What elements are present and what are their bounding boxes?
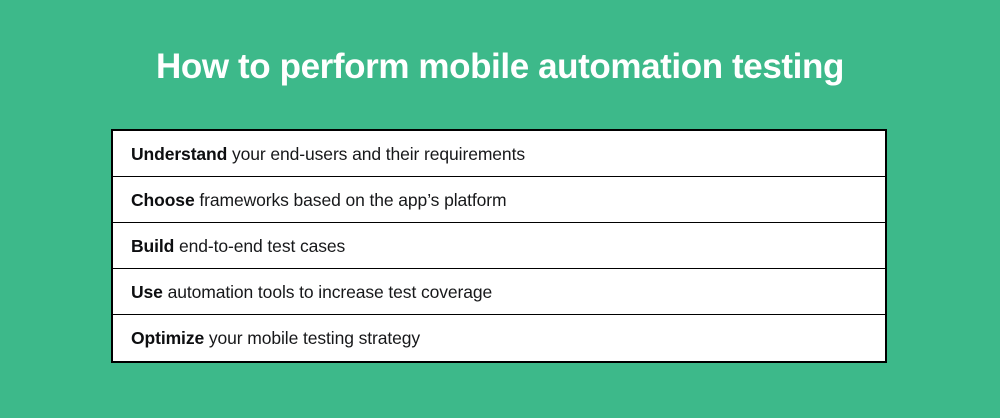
- step-row-5: Optimize your mobile testing strategy: [113, 315, 885, 361]
- step-rest-2: frameworks based on the app’s platform: [195, 190, 507, 210]
- step-text-2: Choose frameworks based on the app’s pla…: [131, 189, 507, 211]
- step-row-2: Choose frameworks based on the app’s pla…: [113, 177, 885, 223]
- step-text-5: Optimize your mobile testing strategy: [131, 327, 420, 349]
- step-rest-4: automation tools to increase test covera…: [163, 282, 492, 302]
- page-title: How to perform mobile automation testing: [0, 45, 1000, 89]
- step-rest-5: your mobile testing strategy: [204, 328, 420, 348]
- step-rest-3: end-to-end test cases: [174, 236, 345, 256]
- step-text-1: Understand your end-users and their requ…: [131, 143, 525, 165]
- step-lead-1: Understand: [131, 144, 227, 164]
- step-row-1: Understand your end-users and their requ…: [113, 131, 885, 177]
- step-text-3: Build end-to-end test cases: [131, 235, 345, 257]
- step-lead-3: Build: [131, 236, 174, 256]
- step-lead-2: Choose: [131, 190, 195, 210]
- step-row-3: Build end-to-end test cases: [113, 223, 885, 269]
- infographic-canvas: How to perform mobile automation testing…: [0, 0, 1000, 418]
- step-lead-5: Optimize: [131, 328, 204, 348]
- steps-table: Understand your end-users and their requ…: [111, 129, 887, 363]
- step-lead-4: Use: [131, 282, 163, 302]
- step-row-4: Use automation tools to increase test co…: [113, 269, 885, 315]
- step-rest-1: your end-users and their requirements: [227, 144, 525, 164]
- step-text-4: Use automation tools to increase test co…: [131, 281, 492, 303]
